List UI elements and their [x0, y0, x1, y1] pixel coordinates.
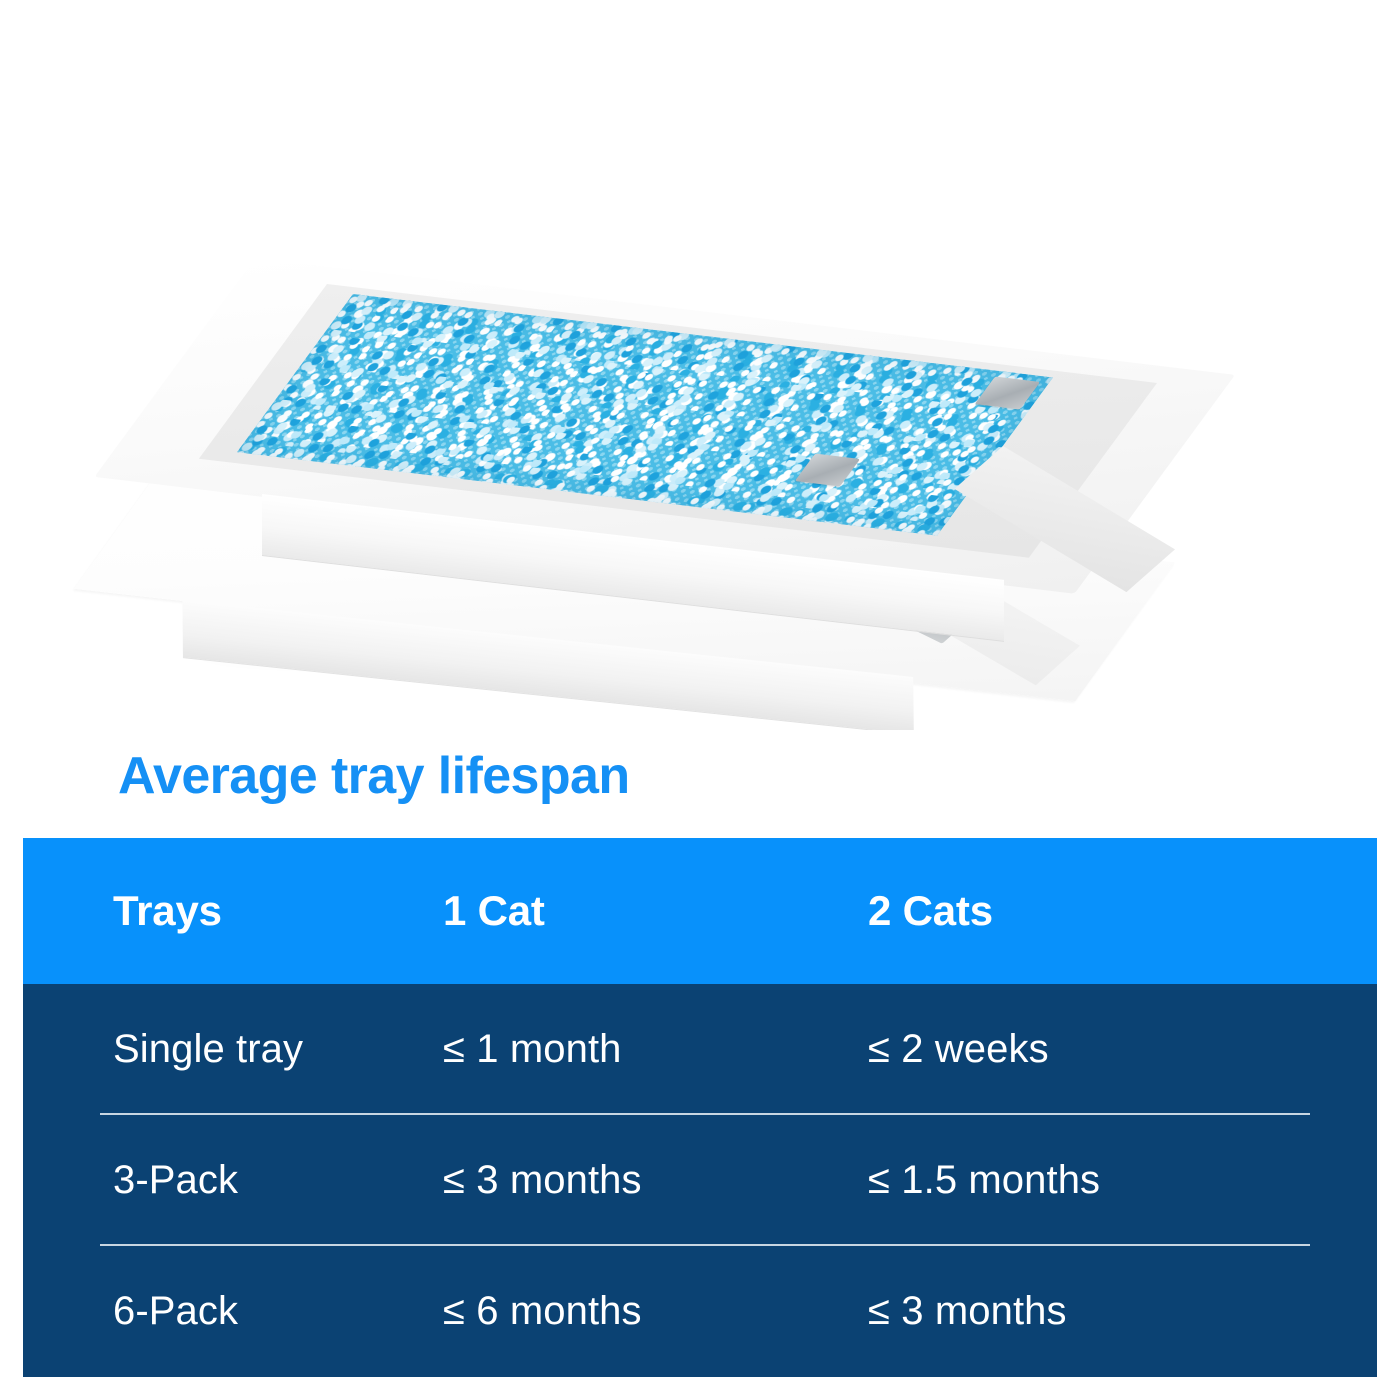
- photo-stage: [0, 0, 1400, 730]
- table-body: Single tray ≤ 1 month ≤ 2 weeks 3-Pack ≤…: [23, 984, 1377, 1377]
- table-header-row: Trays 1 Cat 2 Cats: [23, 838, 1377, 984]
- cell-two-cats: ≤ 1.5 months: [868, 1158, 1377, 1203]
- cell-tray-type: Single tray: [23, 1027, 443, 1072]
- cell-two-cats: ≤ 2 weeks: [868, 1027, 1377, 1072]
- column-header-2-cats: 2 Cats: [868, 887, 1377, 935]
- page-title: Average tray lifespan: [118, 746, 630, 806]
- column-header-1-cat: 1 Cat: [443, 887, 868, 935]
- lifespan-table: Trays 1 Cat 2 Cats Single tray ≤ 1 month…: [23, 838, 1377, 1377]
- cell-one-cat: ≤ 3 months: [443, 1158, 868, 1203]
- filled-litter-tray: [255, 258, 1245, 558]
- product-info-page: Average tray lifespan Trays 1 Cat 2 Cats…: [0, 0, 1400, 1400]
- table-row: 6-Pack ≤ 6 months ≤ 3 months: [23, 1246, 1377, 1377]
- table-row: Single tray ≤ 1 month ≤ 2 weeks: [23, 984, 1377, 1115]
- table-row: 3-Pack ≤ 3 months ≤ 1.5 months: [23, 1115, 1377, 1246]
- cell-one-cat: ≤ 1 month: [443, 1027, 868, 1072]
- cell-one-cat: ≤ 6 months: [443, 1289, 868, 1334]
- product-photo: [0, 0, 1400, 730]
- cell-tray-type: 3-Pack: [23, 1158, 443, 1203]
- cell-two-cats: ≤ 3 months: [868, 1289, 1377, 1334]
- cell-tray-type: 6-Pack: [23, 1289, 443, 1334]
- column-header-trays: Trays: [23, 887, 443, 935]
